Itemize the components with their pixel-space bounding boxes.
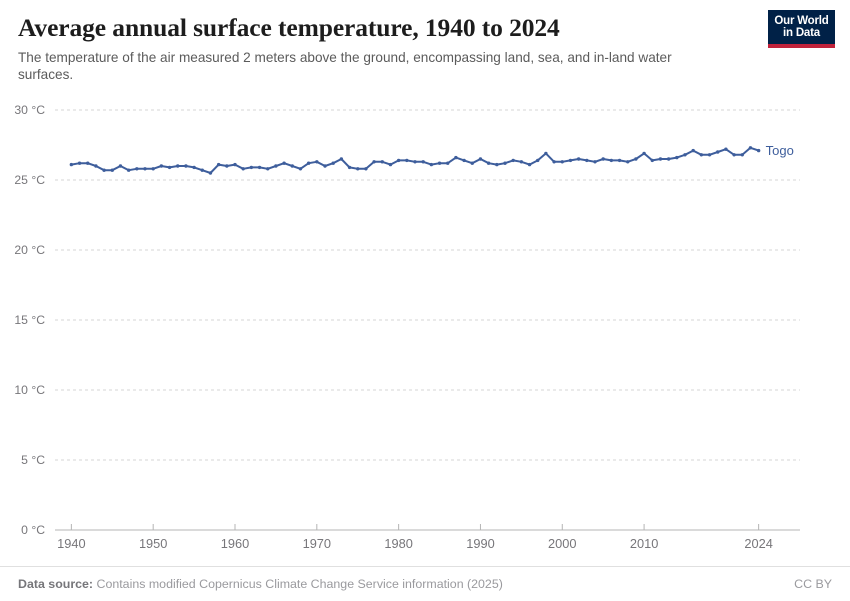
- series-point[interactable]: [168, 166, 171, 169]
- x-axis-tick-label: 1980: [384, 536, 412, 548]
- series-point[interactable]: [176, 164, 179, 167]
- y-axis-tick-label: 15 °C: [14, 313, 45, 327]
- series-point[interactable]: [651, 159, 654, 162]
- series-point[interactable]: [675, 156, 678, 159]
- series-point[interactable]: [389, 163, 392, 166]
- series-point[interactable]: [503, 162, 506, 165]
- owid-logo-line1: Our World: [774, 15, 828, 27]
- series-point[interactable]: [634, 157, 637, 160]
- series-point[interactable]: [372, 160, 375, 163]
- x-axis-tick-label: 1960: [221, 536, 249, 548]
- series-point[interactable]: [102, 169, 105, 172]
- series-point[interactable]: [741, 153, 744, 156]
- x-axis-tick-label: 1990: [466, 536, 494, 548]
- series-point[interactable]: [143, 167, 146, 170]
- series-point[interactable]: [78, 162, 81, 165]
- series-point[interactable]: [299, 167, 302, 170]
- y-axis-tick-label: 10 °C: [14, 383, 45, 397]
- series-point[interactable]: [381, 160, 384, 163]
- series-point[interactable]: [413, 160, 416, 163]
- series-point[interactable]: [430, 163, 433, 166]
- series-point[interactable]: [561, 160, 564, 163]
- series-point[interactable]: [307, 162, 310, 165]
- x-axis-tick-label: 2010: [630, 536, 658, 548]
- owid-logo[interactable]: Our World in Data: [768, 10, 835, 48]
- chart-plot-area[interactable]: 0 °C5 °C10 °C15 °C20 °C25 °C30 °C1940195…: [0, 96, 850, 548]
- series-point[interactable]: [757, 149, 760, 152]
- series-point[interactable]: [250, 166, 253, 169]
- series-point[interactable]: [315, 160, 318, 163]
- series-point[interactable]: [291, 164, 294, 167]
- y-axis-tick-label: 0 °C: [21, 523, 45, 537]
- series-point[interactable]: [348, 166, 351, 169]
- series-point[interactable]: [618, 159, 621, 162]
- series-point[interactable]: [331, 162, 334, 165]
- series-point[interactable]: [356, 167, 359, 170]
- chart-footer: Data source: Contains modified Copernicu…: [0, 566, 850, 600]
- series-point[interactable]: [209, 171, 212, 174]
- series-point[interactable]: [487, 162, 490, 165]
- series-point[interactable]: [520, 160, 523, 163]
- series-point[interactable]: [217, 163, 220, 166]
- series-point[interactable]: [151, 167, 154, 170]
- series-point[interactable]: [323, 164, 326, 167]
- data-source-label: Data source:: [18, 577, 93, 591]
- series-point[interactable]: [683, 153, 686, 156]
- line-chart-svg[interactable]: 0 °C5 °C10 °C15 °C20 °C25 °C30 °C1940195…: [0, 96, 850, 548]
- series-point[interactable]: [577, 157, 580, 160]
- series-point[interactable]: [544, 152, 547, 155]
- series-point[interactable]: [642, 152, 645, 155]
- series-point[interactable]: [86, 162, 89, 165]
- x-axis-tick-label: 2024: [744, 536, 772, 548]
- series-point[interactable]: [471, 162, 474, 165]
- series-point[interactable]: [552, 160, 555, 163]
- series-point[interactable]: [258, 166, 261, 169]
- owid-logo-text: Our World in Data: [774, 15, 828, 40]
- series-point[interactable]: [659, 157, 662, 160]
- owid-logo-line2: in Data: [783, 27, 820, 39]
- series-point[interactable]: [593, 160, 596, 163]
- series-point[interactable]: [454, 156, 457, 159]
- series-point[interactable]: [225, 164, 228, 167]
- series-point[interactable]: [192, 166, 195, 169]
- series-point[interactable]: [160, 164, 163, 167]
- series-point[interactable]: [364, 167, 367, 170]
- series-point[interactable]: [340, 157, 343, 160]
- series-point[interactable]: [438, 162, 441, 165]
- series-point[interactable]: [446, 162, 449, 165]
- series-point[interactable]: [184, 164, 187, 167]
- x-axis-tick-label: 1950: [139, 536, 167, 548]
- y-axis-tick-label: 5 °C: [21, 453, 45, 467]
- series-point[interactable]: [127, 169, 130, 172]
- chart-subtitle: The temperature of the air measured 2 me…: [18, 49, 730, 85]
- data-source-text: Contains modified Copernicus Climate Cha…: [93, 577, 503, 591]
- series-point[interactable]: [601, 157, 604, 160]
- chart-header: Average annual surface temperature, 1940…: [18, 14, 758, 84]
- chart-page: Average annual surface temperature, 1940…: [0, 0, 850, 600]
- series-point[interactable]: [421, 160, 424, 163]
- data-source-note: Data source: Contains modified Copernicu…: [18, 577, 503, 591]
- series-point[interactable]: [201, 169, 204, 172]
- y-axis-tick-label: 30 °C: [14, 103, 45, 117]
- series-point[interactable]: [626, 160, 629, 163]
- series-point[interactable]: [585, 159, 588, 162]
- series-point[interactable]: [282, 162, 285, 165]
- series-point[interactable]: [397, 159, 400, 162]
- series-point[interactable]: [749, 146, 752, 149]
- series-point[interactable]: [708, 153, 711, 156]
- series-point[interactable]: [511, 159, 514, 162]
- series-point[interactable]: [691, 149, 694, 152]
- license-label[interactable]: CC BY: [794, 577, 832, 591]
- x-axis-tick-label: 1970: [303, 536, 331, 548]
- series-point[interactable]: [724, 148, 727, 151]
- x-axis-tick-label: 1940: [57, 536, 85, 548]
- series-point[interactable]: [119, 164, 122, 167]
- series-point[interactable]: [716, 150, 719, 153]
- series-point[interactable]: [266, 167, 269, 170]
- series-point[interactable]: [667, 157, 670, 160]
- series-point[interactable]: [732, 153, 735, 156]
- series-point[interactable]: [94, 164, 97, 167]
- series-label-togo[interactable]: Togo: [766, 143, 794, 158]
- series-point[interactable]: [233, 163, 236, 166]
- series-point[interactable]: [569, 159, 572, 162]
- series-point[interactable]: [700, 153, 703, 156]
- x-axis-tick-label: 2000: [548, 536, 576, 548]
- series-point[interactable]: [135, 167, 138, 170]
- series-point[interactable]: [405, 159, 408, 162]
- series-point[interactable]: [610, 159, 613, 162]
- series-point[interactable]: [274, 164, 277, 167]
- series-point[interactable]: [241, 167, 244, 170]
- y-axis-tick-label: 20 °C: [14, 243, 45, 257]
- page-title: Average annual surface temperature, 1940…: [18, 14, 758, 43]
- series-point[interactable]: [111, 169, 114, 172]
- series-point[interactable]: [536, 159, 539, 162]
- series-point[interactable]: [70, 163, 73, 166]
- series-point[interactable]: [495, 163, 498, 166]
- series-point[interactable]: [462, 159, 465, 162]
- series-point[interactable]: [479, 157, 482, 160]
- series-point[interactable]: [528, 163, 531, 166]
- y-axis-tick-label: 25 °C: [14, 173, 45, 187]
